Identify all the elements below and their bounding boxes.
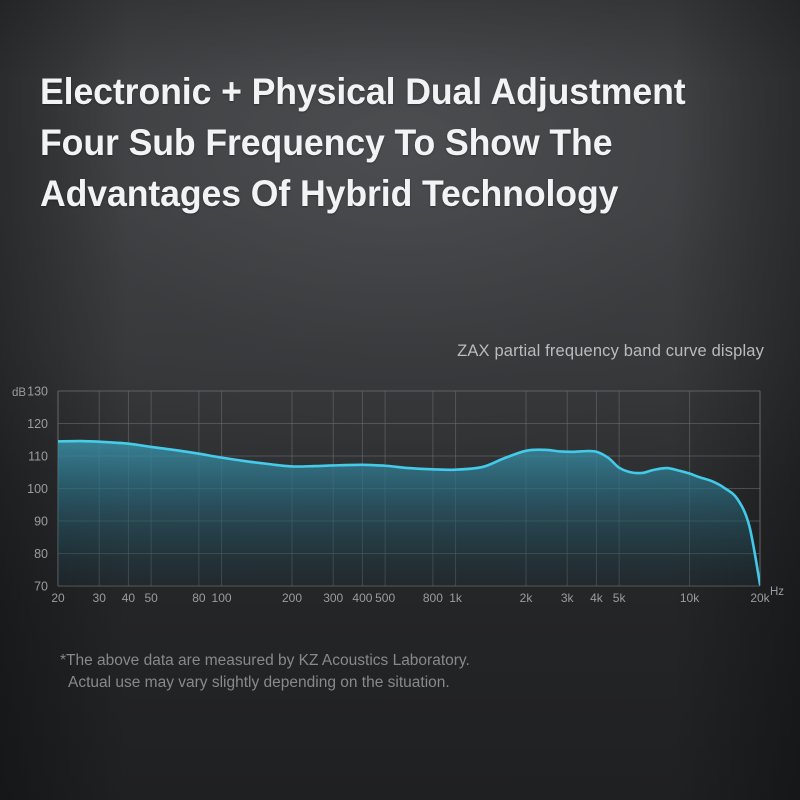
x-axis-tick-labels: 20304050801002003004005008001k2k3k4k5k10… — [51, 591, 770, 605]
x-tick-label: 4k — [590, 591, 604, 605]
x-tick-label: 300 — [323, 591, 343, 605]
x-tick-label: 5k — [613, 591, 627, 605]
x-tick-label: 3k — [561, 591, 575, 605]
y-tick-label: 130 — [27, 385, 48, 399]
x-axis-unit-label: Hz — [770, 586, 784, 598]
chart-caption: ZAX partial frequency band curve display — [457, 342, 764, 361]
y-axis-tick-labels: 130120110100908070 — [27, 385, 48, 594]
x-tick-label: 20k — [750, 591, 770, 605]
curve-fill-path — [58, 441, 760, 592]
x-tick-label: 1k — [449, 591, 463, 605]
page-title: Electronic + Physical Dual Adjustment Fo… — [40, 66, 780, 219]
x-tick-label: 500 — [375, 591, 395, 605]
footnote-line-1: *The above data are measured by KZ Acous… — [60, 650, 470, 672]
x-tick-label: 400 — [352, 591, 372, 605]
x-tick-label: 30 — [93, 591, 107, 605]
x-tick-label: 100 — [212, 591, 232, 605]
chart-area-fill — [58, 441, 760, 592]
headline-line-1: Electronic + Physical Dual Adjustment — [40, 66, 743, 117]
x-tick-label: 200 — [282, 591, 302, 605]
x-tick-label: 10k — [680, 591, 700, 605]
y-tick-label: 100 — [27, 482, 48, 496]
footnote-line-2: Actual use may vary slightly depending o… — [60, 672, 470, 694]
promo-banner: Electronic + Physical Dual Adjustment Fo… — [0, 0, 800, 800]
y-tick-label: 90 — [34, 515, 48, 529]
x-tick-label: 2k — [520, 591, 534, 605]
headline-line-2: Four Sub Frequency To Show The — [40, 117, 743, 168]
y-axis-unit-label: dB — [12, 387, 26, 399]
frequency-response-chart: 130120110100908070 203040508010020030040… — [0, 376, 800, 611]
x-tick-label: 80 — [192, 591, 206, 605]
y-tick-label: 120 — [27, 417, 48, 431]
x-tick-label: 20 — [51, 591, 65, 605]
footnote: *The above data are measured by KZ Acous… — [60, 650, 470, 694]
headline-line-3: Advantages Of Hybrid Technology — [40, 168, 743, 219]
y-tick-label: 110 — [28, 450, 48, 464]
y-tick-label: 70 — [34, 580, 48, 594]
y-tick-label: 80 — [34, 547, 48, 561]
chart-svg: 130120110100908070 203040508010020030040… — [0, 376, 800, 611]
x-tick-label: 50 — [144, 591, 158, 605]
x-tick-label: 40 — [122, 591, 136, 605]
x-tick-label: 800 — [423, 591, 443, 605]
